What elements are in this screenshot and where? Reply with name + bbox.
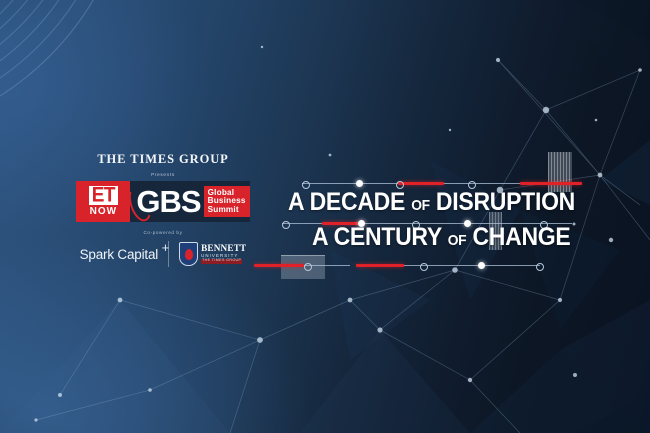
bennett-group-tag: THE TIMES GROUP	[201, 259, 242, 264]
gbs-tagline: Global Business Summit	[204, 186, 250, 218]
gbs-tagline-line3: Summit	[208, 206, 246, 215]
times-group-title: THE TIMES GROUP	[52, 152, 274, 167]
primary-logo-row: ET NOW GBS Global Business Summit	[52, 181, 274, 222]
etnow-logo: ET NOW	[76, 181, 130, 222]
headline-line-2: A CENTURY OF CHANGE	[312, 225, 566, 250]
headline-line2-connector: OF	[448, 232, 467, 249]
sponsor-lockup: THE TIMES GROUP Presents ET NOW GBS Glob…	[52, 152, 274, 267]
etnow-now-text: NOW	[90, 207, 117, 217]
gbs-logo: GBS Global Business Summit	[130, 181, 249, 222]
shield-crest-icon	[179, 242, 198, 266]
bennett-text-block: BENNETT UNIVERSITY THE TIMES GROUP	[201, 244, 246, 263]
event-banner: THE TIMES GROUP Presents ET NOW GBS Glob…	[0, 0, 650, 433]
presents-label: Presents	[52, 172, 274, 177]
headline-line2-part2: CHANGE	[472, 223, 570, 251]
headline-line1-part2: DISRUPTION	[436, 188, 575, 216]
copowered-label: Co-powered by	[52, 230, 274, 235]
headline-line2-part1: A CENTURY	[312, 223, 442, 251]
headline-line1-part1: A DECADE	[288, 188, 405, 216]
rail-top	[292, 179, 584, 188]
spark-capital-name: Spark Capital	[80, 247, 158, 262]
headline-line1-connector: OF	[411, 197, 430, 214]
plus-mark-icon: +	[162, 240, 169, 255]
rail-bottom	[250, 261, 580, 270]
spark-capital-logo: Spark Capital +	[80, 247, 158, 262]
etnow-et-text: ET	[92, 185, 115, 206]
bennett-university-logo: BENNETT UNIVERSITY THE TIMES GROUP	[179, 242, 246, 266]
partner-logo-row: Spark Capital + BENNETT UNIVERSITY THE T…	[52, 241, 274, 267]
headline-block: A DECADE OF DISRUPTION A CENTURY OF CHAN…	[288, 190, 588, 250]
crest-flame-shape	[185, 249, 193, 260]
headline-line-1: A DECADE OF DISRUPTION	[288, 190, 564, 215]
